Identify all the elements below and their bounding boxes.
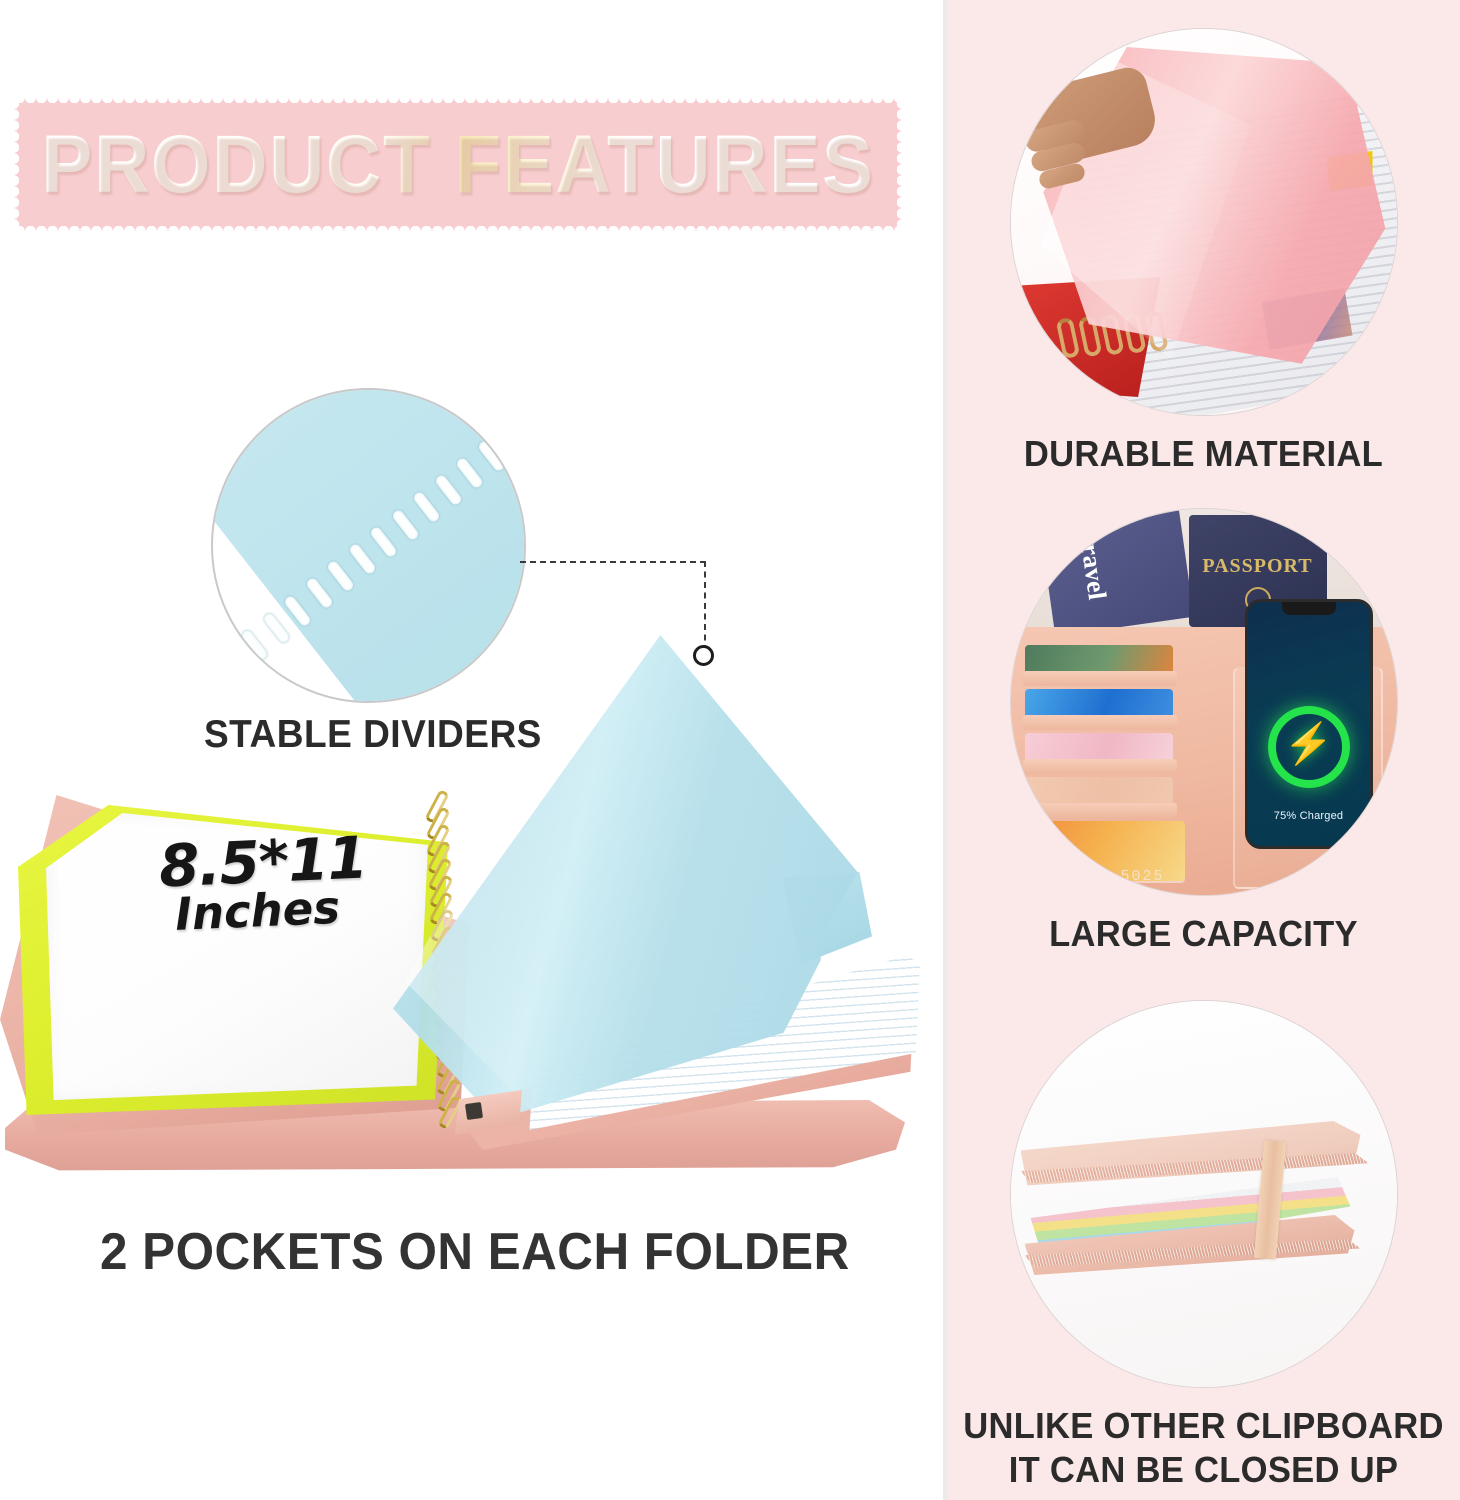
binding-hole bbox=[476, 439, 506, 473]
open-binder-photo: 8.5*11 Inches bbox=[0, 620, 943, 1180]
closes-nicely-label-line1: UNLIKE OTHER CLIPBOARD bbox=[957, 1404, 1449, 1448]
banner-scallop-top-edge bbox=[14, 93, 902, 103]
binding-hole bbox=[304, 577, 334, 611]
binding-hole bbox=[326, 559, 356, 593]
large-capacity-photo: travel PASSPORT 00 4629 5025 bbox=[1010, 508, 1398, 896]
card-slot-panel: 00 4629 5025 ⚡ 75% Charged bbox=[1011, 627, 1397, 896]
binding-hole bbox=[347, 542, 377, 576]
travel-notebook: travel bbox=[1040, 508, 1194, 636]
paper-size-unit: Inches bbox=[174, 886, 369, 937]
closed-clipboard-photo bbox=[1010, 1000, 1398, 1388]
binder-clip-slot bbox=[465, 1102, 483, 1120]
durable-material-photo bbox=[1010, 28, 1398, 416]
binding-hole bbox=[412, 491, 442, 525]
card-slot-lip bbox=[1023, 803, 1177, 818]
binding-hole bbox=[455, 456, 485, 490]
banner-scallop-left-edge bbox=[9, 98, 19, 231]
card-number: 00 4629 5025 bbox=[1033, 868, 1165, 885]
title-banner: PRODUCT FEATURES bbox=[14, 98, 902, 231]
large-capacity-label: LARGE CAPACITY bbox=[957, 912, 1449, 956]
closes-nicely-label: UNLIKE OTHER CLIPBOARD IT CAN BE CLOSED … bbox=[957, 1404, 1449, 1500]
phone-notch bbox=[1282, 602, 1336, 615]
closes-nicely-label-line2: IT CAN BE CLOSED UP NICELY bbox=[957, 1448, 1449, 1500]
left-panel: PRODUCT FEATURES STABLE DIVIDERS bbox=[0, 0, 943, 1500]
feature-closes-nicely: UNLIKE OTHER CLIPBOARD IT CAN BE CLOSED … bbox=[947, 1000, 1460, 1500]
travel-notebook-label: travel bbox=[1073, 533, 1112, 602]
banner-scallop-right-edge bbox=[897, 98, 907, 231]
page-title: PRODUCT FEATURES bbox=[41, 118, 874, 212]
battery-status-text: 75% Charged bbox=[1248, 810, 1370, 822]
binding-hole bbox=[433, 473, 463, 507]
pockets-caption: 2 POCKETS ON EACH FOLDER bbox=[100, 1222, 850, 1282]
card-slot-lip bbox=[1023, 671, 1177, 686]
feature-durable-material: DURABLE MATERIAL bbox=[947, 28, 1460, 476]
smartphone: ⚡ 75% Charged bbox=[1245, 599, 1373, 849]
product-features-infographic: PRODUCT FEATURES STABLE DIVIDERS bbox=[0, 0, 1460, 1500]
banner-scallop-bottom-edge bbox=[14, 226, 902, 236]
passport-label: PASSPORT bbox=[1202, 555, 1312, 577]
right-panel: DURABLE MATERIAL travel PASSPORT bbox=[947, 0, 1460, 1500]
callout-dashed-line-horizontal bbox=[520, 561, 706, 563]
card-slot-lip bbox=[1023, 715, 1177, 730]
paper-size-label: 8.5*11 Inches bbox=[158, 831, 370, 938]
binding-hole bbox=[369, 525, 399, 559]
binding-hole bbox=[390, 508, 420, 542]
card-slot-lip bbox=[1023, 759, 1177, 774]
feature-large-capacity: travel PASSPORT 00 4629 5025 bbox=[947, 508, 1460, 956]
durable-material-label: DURABLE MATERIAL bbox=[957, 432, 1449, 476]
lightning-bolt-icon: ⚡ bbox=[1284, 724, 1334, 764]
